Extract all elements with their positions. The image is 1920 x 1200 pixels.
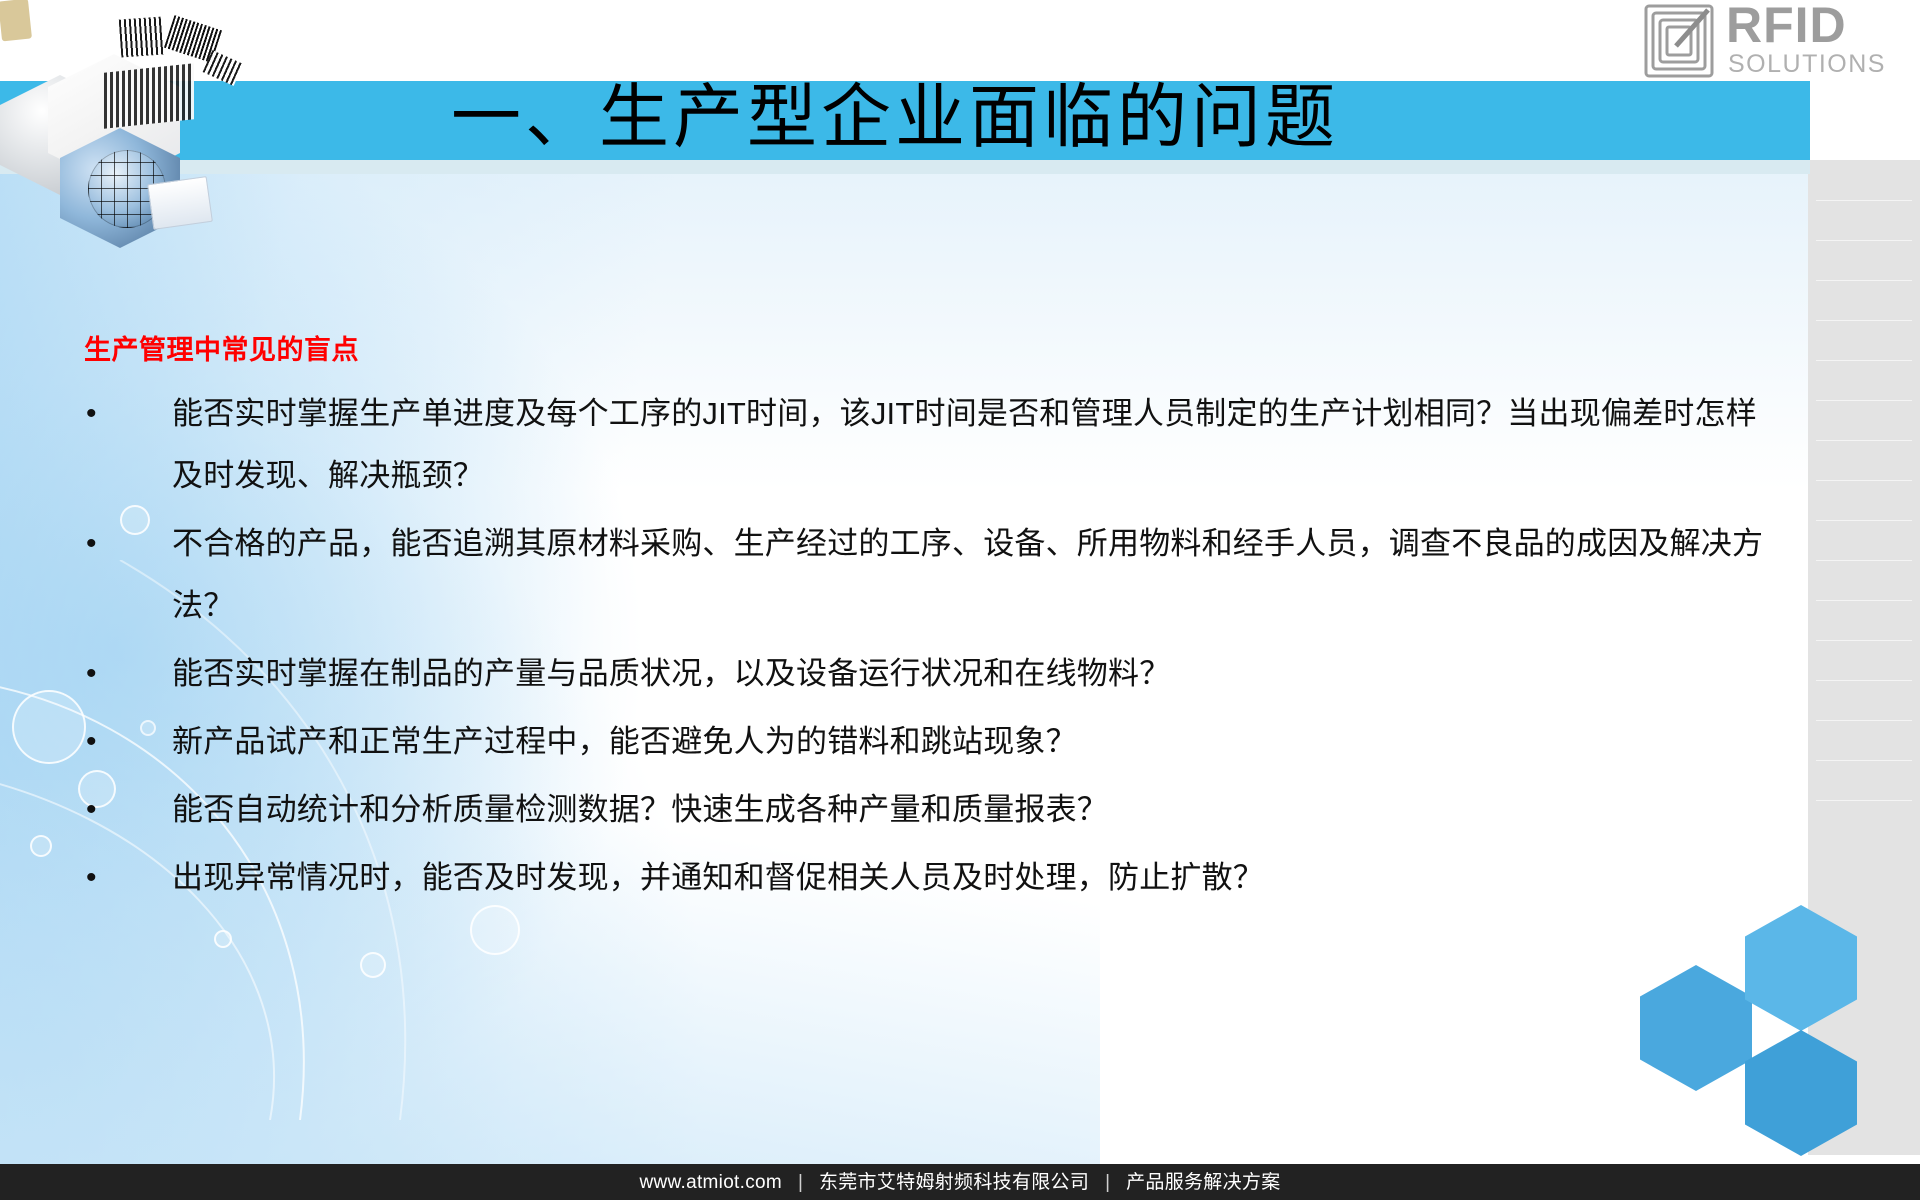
- barcode-small-icon: [203, 50, 244, 86]
- bullet-text: 出现异常情况时，能否及时发现，并通知和督促相关人员及时处理，防止扩散？: [172, 847, 1774, 909]
- bullet-text: 能否实时掌握生产单进度及每个工序的JIT时间，该JIT时间是否和管理人员制定的生…: [172, 383, 1774, 507]
- footer-separator: |: [1105, 1173, 1110, 1192]
- barcode-sheet-icon: [104, 63, 194, 128]
- slide-canvas: 一、生产型企业面临的问题 RFID SOLUTIONS 生产管理中常见的盲点 •: [0, 0, 1920, 1200]
- section-kicker: 生产管理中常见的盲点: [84, 337, 359, 364]
- bullet-text: 能否自动统计和分析质量检测数据？快速生成各种产量和质量报表？: [172, 779, 1774, 841]
- decorative-bubble: [12, 690, 86, 764]
- laptop-icon: [147, 176, 213, 230]
- decorative-bubble: [360, 952, 386, 978]
- rfid-coil-icon: [1642, 2, 1718, 80]
- list-item: • 新产品试产和正常生产过程中，能否避免人为的错料和跳站现象？: [84, 711, 1774, 773]
- brand-logo: RFID SOLUTIONS: [1642, 2, 1914, 82]
- hexagon-decoration: [1640, 965, 1752, 1091]
- bullet-list: • 能否实时掌握生产单进度及每个工序的JIT时间，该JIT时间是否和管理人员制定…: [84, 383, 1774, 915]
- logo-tagline: SOLUTIONS: [1728, 52, 1886, 77]
- decorative-bubble: [30, 835, 52, 857]
- bullet-marker-icon: •: [84, 779, 172, 841]
- barcode-icon: [119, 17, 166, 58]
- decorative-bubble: [214, 930, 232, 948]
- list-item: • 能否自动统计和分析质量检测数据？快速生成各种产量和质量报表？: [84, 779, 1774, 841]
- footer-website[interactable]: www.atmiot.com: [640, 1173, 783, 1192]
- bullet-marker-icon: •: [84, 513, 172, 575]
- bullet-text: 能否实时掌握在制品的产量与品质状况，以及设备运行状况和在线物料？: [172, 643, 1774, 705]
- header-artwork: [0, 0, 240, 230]
- bullet-text: 不合格的产品，能否追溯其原材料采购、生产经过的工序、设备、所用物料和经手人员，调…: [172, 513, 1774, 637]
- bullet-text: 新产品试产和正常生产过程中，能否避免人为的错料和跳站现象？: [172, 711, 1774, 773]
- footer-tagline: 产品服务解决方案: [1126, 1173, 1280, 1192]
- list-item: • 能否实时掌握在制品的产量与品质状况，以及设备运行状况和在线物料？: [84, 643, 1774, 705]
- bullet-marker-icon: •: [84, 383, 172, 445]
- logo-wordmark: RFID: [1726, 0, 1847, 50]
- list-item: • 出现异常情况时，能否及时发现，并通知和督促相关人员及时处理，防止扩散？: [84, 847, 1774, 909]
- list-item: • 能否实时掌握生产单进度及每个工序的JIT时间，该JIT时间是否和管理人员制定…: [84, 383, 1774, 507]
- bullet-marker-icon: •: [84, 847, 172, 909]
- footer-company-name: 东莞市艾特姆射频科技有限公司: [819, 1173, 1089, 1192]
- bullet-marker-icon: •: [84, 711, 172, 773]
- list-item: • 不合格的产品，能否追溯其原材料采购、生产经过的工序、设备、所用物料和经手人员…: [84, 513, 1774, 637]
- footer-bar: www.atmiot.com | 东莞市艾特姆射频科技有限公司 | 产品服务解决…: [0, 1164, 1920, 1200]
- slide-title: 一、生产型企业面临的问题: [0, 64, 1790, 174]
- footer-separator: |: [798, 1173, 803, 1192]
- bullet-marker-icon: •: [84, 643, 172, 705]
- label-roll-icon: [0, 0, 32, 41]
